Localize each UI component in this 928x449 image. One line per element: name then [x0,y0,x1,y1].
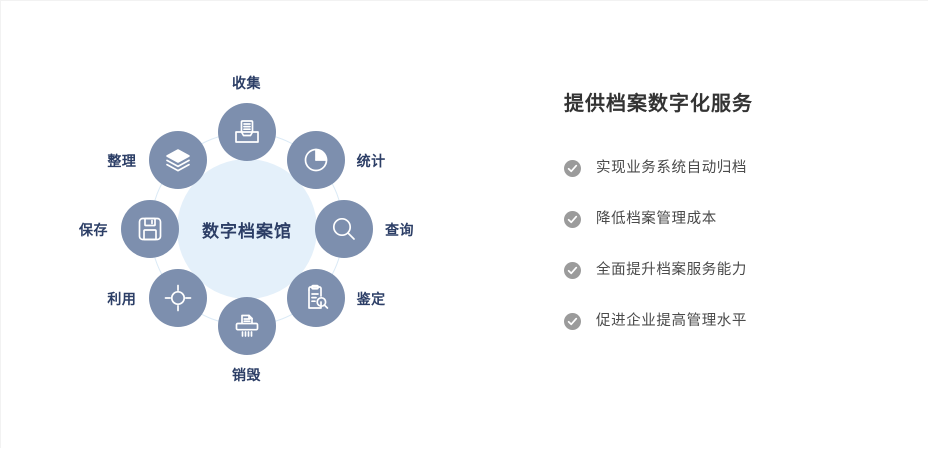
benefit-item: 促进企业提高管理水平 [564,313,904,330]
inbox-tray-icon [232,117,262,147]
diagram-node-统计[interactable] [287,131,345,189]
floppy-disk-icon [135,214,165,244]
benefit-list: 实现业务系统自动归档降低档案管理成本全面提升档案服务能力促进企业提高管理水平 [564,160,904,330]
center-hub-label: 数字档案馆 [202,217,292,242]
benefit-item: 全面提升档案服务能力 [564,262,904,279]
archive-cycle-diagram: 数字档案馆 收集统计查询鉴定销毁利用保存整理 [1,1,501,449]
benefit-item-label: 全面提升档案服务能力 [596,263,747,278]
diagram-node-label: 统计 [357,151,386,171]
benefit-item: 降低档案管理成本 [564,211,904,228]
check-circle-icon [564,211,581,228]
pie-chart-icon [301,145,331,175]
diagram-node-保存[interactable] [121,200,179,258]
page-root: 数字档案馆 收集统计查询鉴定销毁利用保存整理 提供档案数字化服务 实现业务系统自… [0,0,928,448]
diagram-node-label: 利用 [107,289,136,309]
diagram-node-收集[interactable] [218,103,276,161]
check-circle-icon [564,313,581,330]
shredder-icon [232,311,262,341]
diagram-node-label: 销毁 [232,365,261,385]
diagram-node-利用[interactable] [149,269,207,327]
panel-title: 提供档案数字化服务 [564,87,904,116]
layers-icon [163,145,193,175]
diagram-node-查询[interactable] [315,200,373,258]
check-circle-icon [564,160,581,177]
magnifier-icon [329,214,359,244]
diagram-node-鉴定[interactable] [287,269,345,327]
service-panel: 提供档案数字化服务 实现业务系统自动归档降低档案管理成本全面提升档案服务能力促进… [564,87,904,330]
benefit-item-label: 降低档案管理成本 [596,212,717,227]
clipboard-search-icon [301,283,331,313]
diagram-node-label: 收集 [232,73,261,93]
diagram-node-label: 鉴定 [357,289,386,309]
diagram-node-label: 保存 [79,220,108,240]
benefit-item-label: 促进企业提高管理水平 [596,314,747,329]
benefit-item: 实现业务系统自动归档 [564,160,904,177]
check-circle-icon [564,262,581,279]
benefit-item-label: 实现业务系统自动归档 [596,161,747,176]
diagram-node-销毁[interactable] [218,297,276,355]
crosshair-icon [163,283,193,313]
diagram-node-label: 整理 [107,151,136,171]
diagram-node-label: 查询 [385,220,414,240]
